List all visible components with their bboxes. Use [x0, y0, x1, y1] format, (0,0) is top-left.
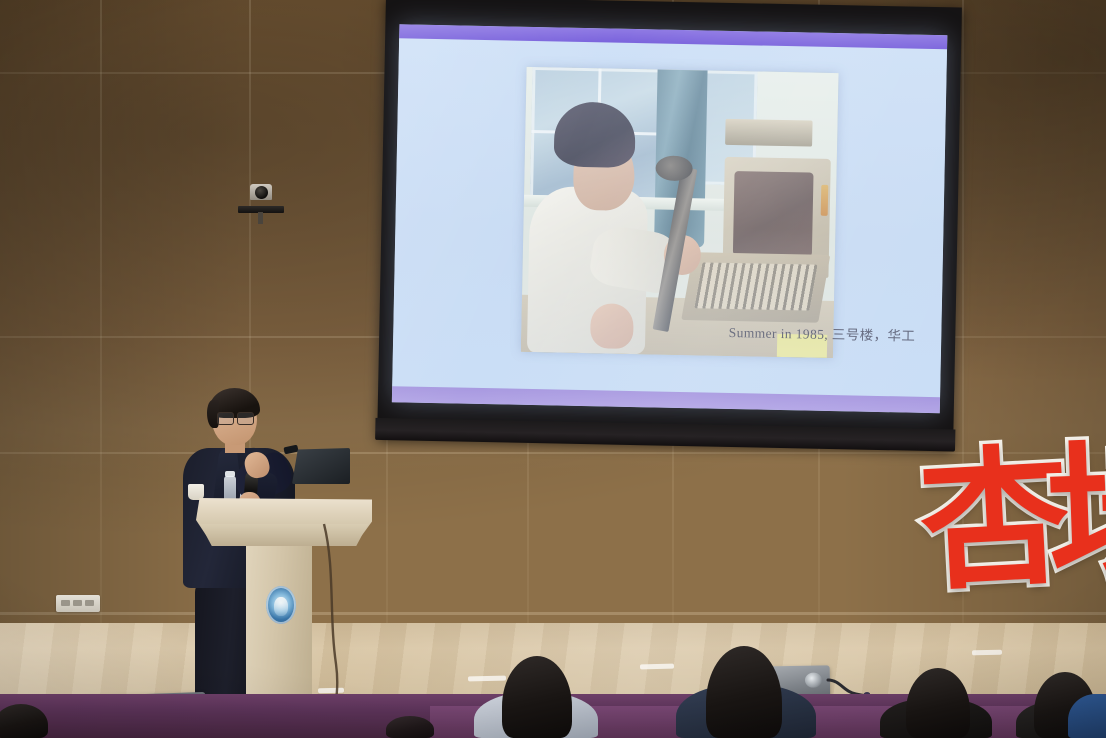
lectern-column: [246, 544, 312, 716]
laptop[interactable]: [292, 448, 350, 484]
presenter-glasses: [217, 412, 255, 424]
lectern-top-face: [200, 524, 368, 546]
slide-photo: [521, 67, 839, 358]
wall-seam: [100, 0, 102, 640]
floor-marker-tape: [640, 664, 674, 670]
camera-mount-post: [258, 212, 263, 224]
university-seal-icon: [266, 586, 296, 624]
lecture-hall-scene: Summer in 1985, 三号楼，华工 杏 坛: [0, 0, 1106, 738]
outlet-socket: [73, 600, 82, 606]
projector-lens-icon: [805, 673, 822, 688]
outlet-socket: [61, 600, 70, 606]
paper-cup: [188, 484, 204, 500]
projection-screen[interactable]: Summer in 1985, 三号楼，华工: [377, 0, 962, 449]
presentation-slide: Summer in 1985, 三号楼，华工: [392, 24, 947, 413]
water-bottle: [224, 476, 236, 502]
floor-marker-tape: [468, 676, 506, 682]
wall-dado-line: [0, 612, 1106, 615]
wall-character-2: 坛: [1045, 435, 1106, 596]
floor-marker-tape: [972, 650, 1002, 656]
audience-member-head: [386, 716, 434, 738]
photo-projection-haze: [521, 67, 839, 358]
camera-lens-icon: [255, 186, 268, 199]
outlet-socket: [85, 600, 94, 606]
ptz-camera-icon: [238, 183, 284, 217]
wall-outlet-plate[interactable]: [56, 595, 100, 612]
